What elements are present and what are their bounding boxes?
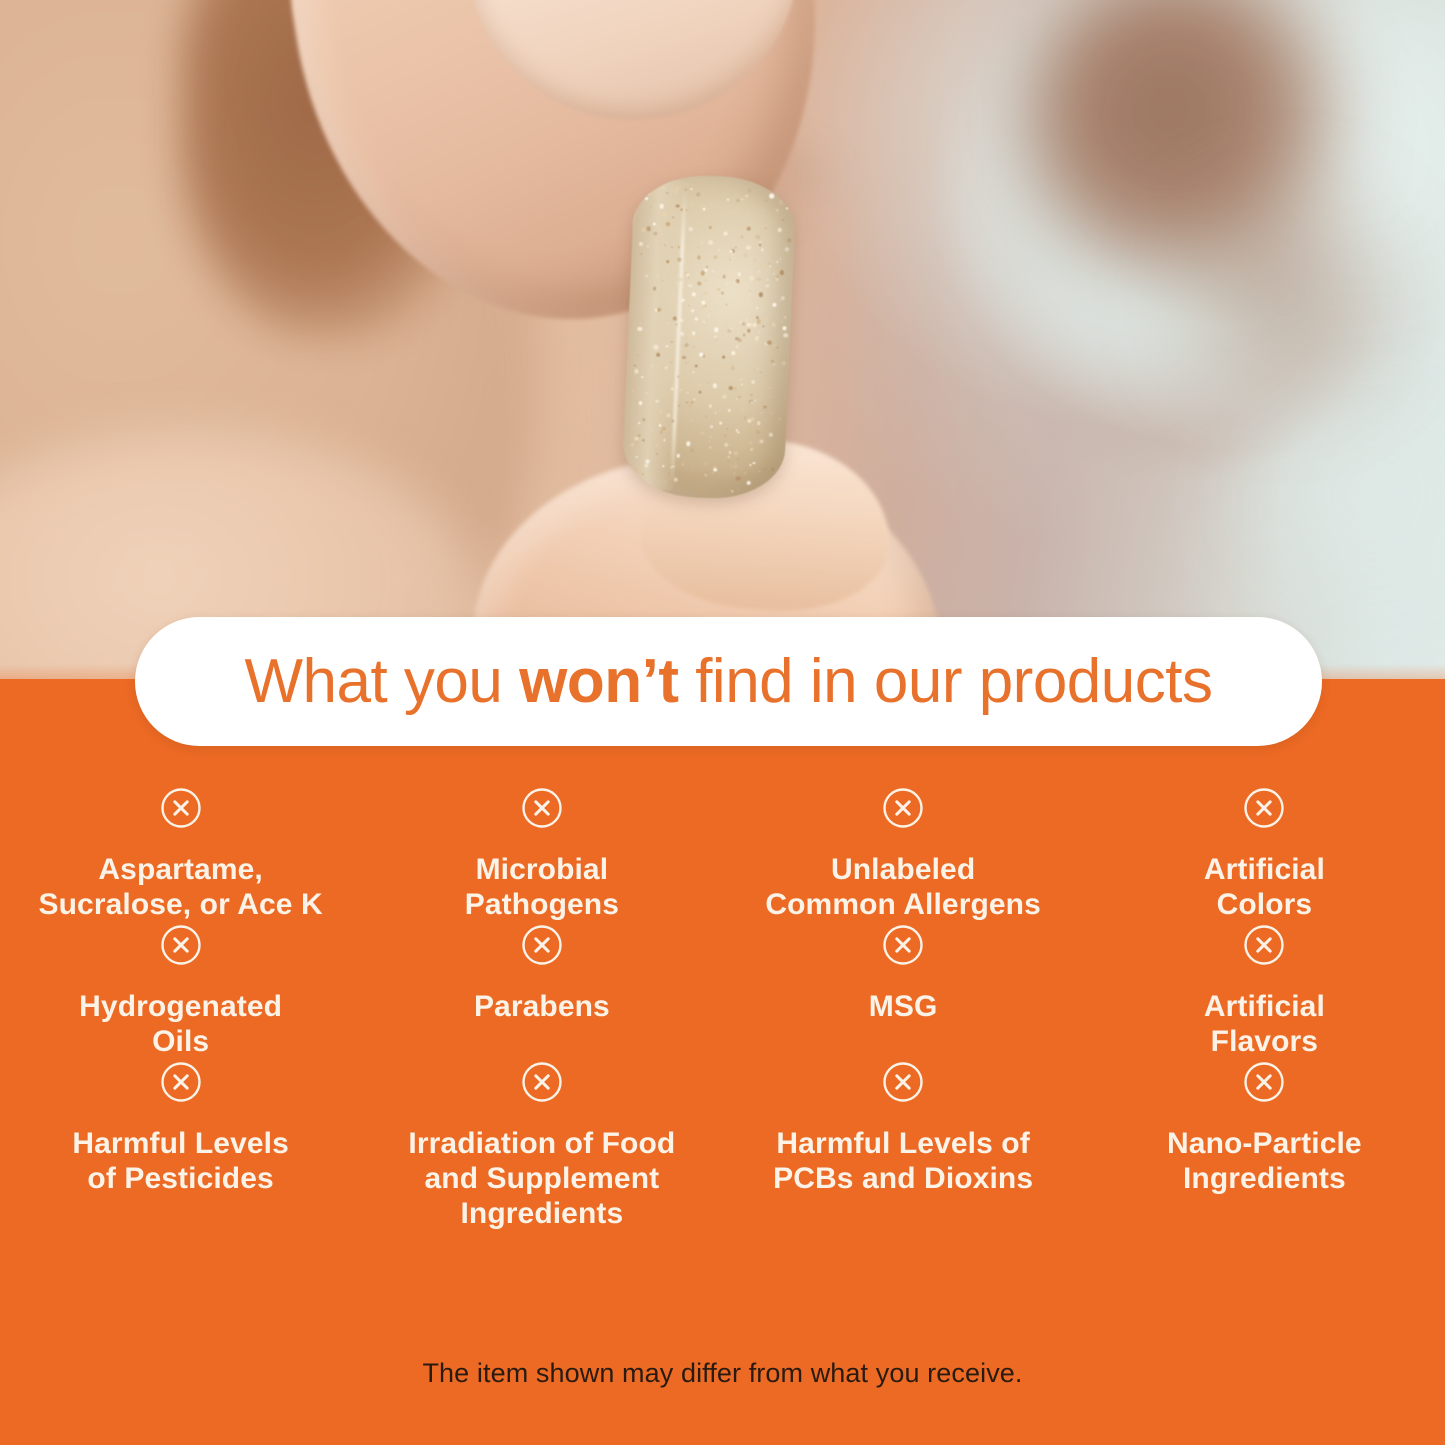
circle-x-icon [881,1060,925,1104]
grid-item: HydrogenatedOils [0,923,361,1060]
circle-x-icon [520,1060,564,1104]
product-photo [0,0,1445,690]
excluded-ingredients-grid: Aspartame,Sucralose, or Ace KMicrobialPa… [0,786,1445,1232]
bokeh-shadow-lower [1140,170,1430,420]
grid-item-label: Aspartame,Sucralose, or Ace K [39,852,323,923]
grid-item-label: UnlabeledCommon Allergens [765,852,1041,923]
grid-item-label: HydrogenatedOils [79,989,282,1060]
grid-item: UnlabeledCommon Allergens [723,786,1084,923]
circle-x-icon [881,786,925,830]
headline-banner: What you won’t find in our products [135,617,1322,746]
grid-item-label: Parabens [474,989,610,1024]
infographic-canvas: What you won’t find in our products Aspa… [0,0,1445,1445]
grid-item-label: Harmful Levelsof Pesticides [72,1126,288,1197]
grid-item-label: MSG [869,989,938,1024]
circle-x-icon [881,923,925,967]
grid-item: Harmful Levelsof Pesticides [0,1060,361,1232]
grid-item: MSG [723,923,1084,1060]
grid-item-label: ArtificialFlavors [1204,989,1325,1060]
grid-item: MicrobialPathogens [361,786,722,923]
grid-item-label: MicrobialPathogens [465,852,619,923]
circle-x-icon [1242,923,1286,967]
grid-item-label: ArtificialColors [1204,852,1325,923]
supplement-tablet [621,173,797,502]
grid-item: ArtificialColors [1084,786,1445,923]
headline-prefix: What you [245,647,520,716]
circle-x-icon [159,1060,203,1104]
disclaimer-text: The item shown may differ from what you … [0,1358,1445,1389]
grid-item-label: Harmful Levels ofPCBs and Dioxins [773,1126,1033,1197]
circle-x-icon [520,923,564,967]
headline-suffix: find in our products [678,647,1212,716]
circle-x-icon [1242,1060,1286,1104]
circle-x-icon [159,923,203,967]
grid-item: Harmful Levels ofPCBs and Dioxins [723,1060,1084,1232]
headline-emphasis: won’t [519,647,678,716]
circle-x-icon [520,786,564,830]
grid-item: ArtificialFlavors [1084,923,1445,1060]
page-title: What you won’t find in our products [245,651,1213,713]
grid-item-label: Irradiation of Foodand SupplementIngredi… [408,1126,675,1232]
circle-x-icon [159,786,203,830]
grid-item: Parabens [361,923,722,1060]
grid-item-label: Nano-ParticleIngredients [1167,1126,1362,1197]
grid-item: Nano-ParticleIngredients [1084,1060,1445,1232]
grid-item: Aspartame,Sucralose, or Ace K [0,786,361,923]
circle-x-icon [1242,786,1286,830]
grid-item: Irradiation of Foodand SupplementIngredi… [361,1060,722,1232]
